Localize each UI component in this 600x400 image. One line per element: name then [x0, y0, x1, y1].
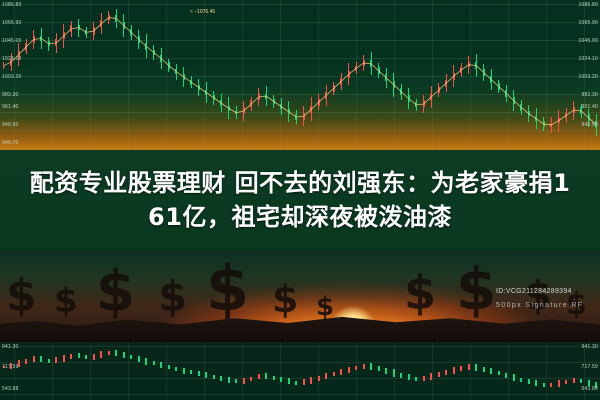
axis-label-left-2: 1045.00 [2, 38, 21, 44]
headline-banner: 配资专业股票理财 回不去的刘强东：为老家豪捐1 61亿，祖宅却深夜被泼油漆 [0, 150, 600, 250]
axis-label-left-3: 1024.10 [2, 56, 21, 62]
dollar-sign-icon: $ [404, 270, 436, 316]
headline-line-1: 配资专业股票理财 回不去的刘强东：为老家豪捐1 [30, 166, 571, 200]
bottom-candlestick-series [0, 342, 600, 400]
axis-label-right-2: 1045.00 [579, 38, 598, 44]
axis-label-left-7: 940.50 [2, 122, 19, 128]
axis-label-left-0: 1086.80 [2, 2, 21, 8]
axis-label-left-1: 1065.90 [2, 20, 21, 26]
bottom-axis-label-right-2: 543.88 [582, 386, 599, 392]
bottom-axis-label-left-1: 717.59 [2, 364, 19, 370]
axis-label-right-0: 1086.80 [579, 2, 598, 8]
bottom-axis-label-left-2: 543.88 [2, 386, 19, 392]
bottom-axis-label-right-1: 717.59 [582, 364, 599, 370]
bottom-candlestick-chart: 941.30 717.59 543.88 941.30 717.59 543.8… [0, 342, 600, 400]
dollar-sign-icon: $ [206, 258, 249, 320]
dollar-sign-icon: $ [54, 284, 78, 318]
axis-label-left-4: 1003.20 [2, 74, 21, 80]
axis-label-right-4: 1003.20 [579, 74, 598, 80]
watermark-subtitle: 500px Signature RF [496, 302, 583, 309]
axis-label-left-6: 961.40 [2, 104, 19, 110]
axis-label-right-5: 982.30 [582, 92, 599, 98]
dollar-sign-icon: $ [158, 276, 187, 318]
dollar-sign-icon: $ [524, 276, 552, 316]
axis-label-right-7: 940.50 [582, 122, 599, 128]
axis-label-right-3: 1024.10 [579, 56, 598, 62]
dollar-sign-icon: $ [316, 294, 334, 320]
dollar-sign-icon: $ [6, 274, 37, 318]
image-canvas: 1086.80 1065.90 1045.00 1024.10 1003.20 … [0, 0, 600, 400]
chart-annotation: ≈ −1076.45 [190, 9, 215, 15]
bottom-axis-label-left-0: 941.30 [2, 344, 19, 350]
axis-label-left-5: 982.30 [2, 92, 19, 98]
headline-line-2: 61亿，祖宅却深夜被泼油漆 [148, 200, 452, 234]
axis-label-right-6: 961.40 [582, 104, 599, 110]
top-candlestick-chart: 1086.80 1065.90 1045.00 1024.10 1003.20 … [0, 0, 600, 150]
dollar-sign-icon: $ [96, 264, 135, 320]
dollar-sign-icon: $ [272, 280, 298, 318]
moving-average-line [0, 0, 600, 150]
axis-label-left-8: 940.70 [2, 140, 19, 146]
watermark-id: ID:VCG211284289394 [496, 288, 572, 295]
axis-label-right-1: 1065.90 [579, 20, 598, 26]
dollar-sign-icon: $ [456, 260, 496, 318]
bottom-axis-label-right-0: 941.30 [582, 344, 599, 350]
sunset-photo: $ $ $ $ $ $ $ $ $ $ $ 视觉中国 ID:VCG2112842… [0, 250, 600, 342]
